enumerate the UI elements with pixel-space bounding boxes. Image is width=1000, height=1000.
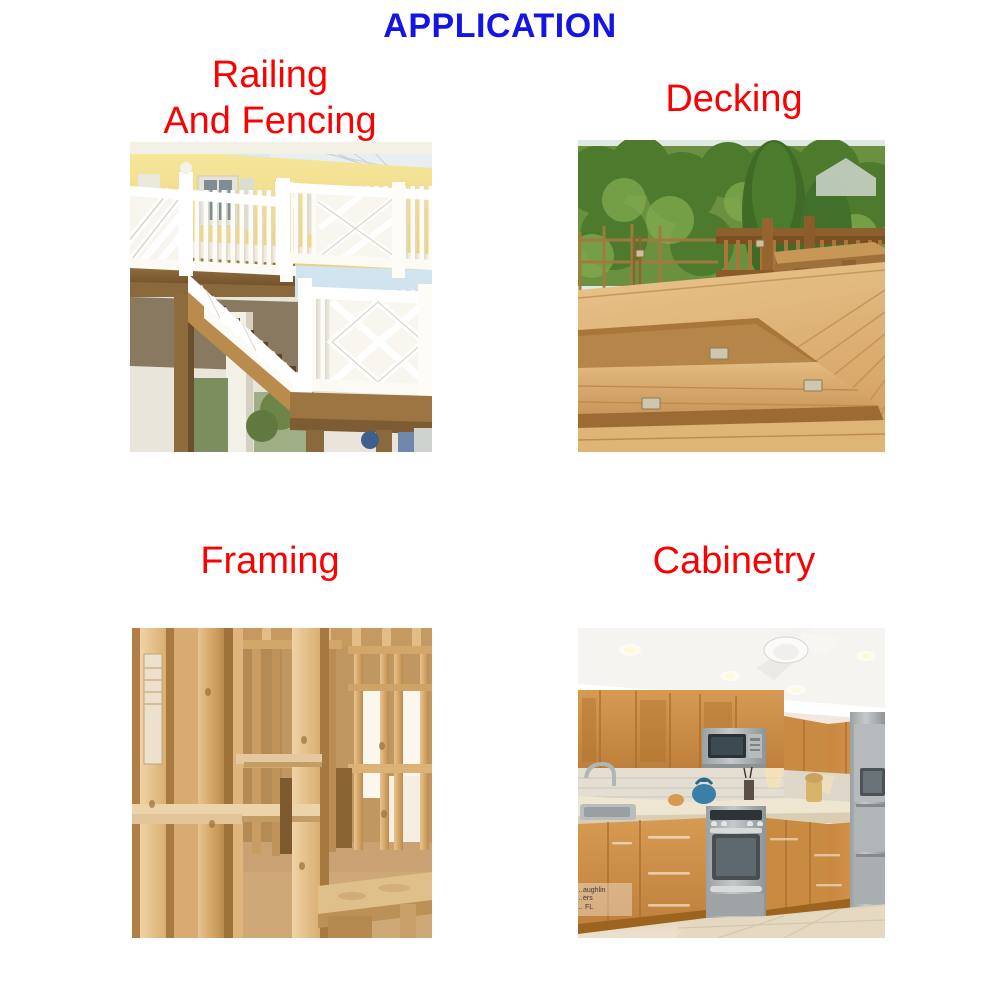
photo-decking — [578, 140, 885, 452]
photo-framing — [132, 628, 432, 938]
cell-label-cabinetry: Cabinetry — [454, 538, 1000, 584]
photo-cabinetry: …aughlin …ers … FL — [578, 628, 885, 938]
cell-label-decking: Decking — [454, 76, 1000, 122]
application-cell-cabinetry: Cabinetry — [450, 520, 1000, 950]
photo-watermark: …aughlin …ers … FL — [578, 883, 632, 917]
application-cell-decking: Decking — [450, 40, 1000, 460]
slide-root: APPLICATION Railing And Fencing — [0, 0, 1000, 1000]
photo-railing-and-fencing — [130, 142, 432, 452]
